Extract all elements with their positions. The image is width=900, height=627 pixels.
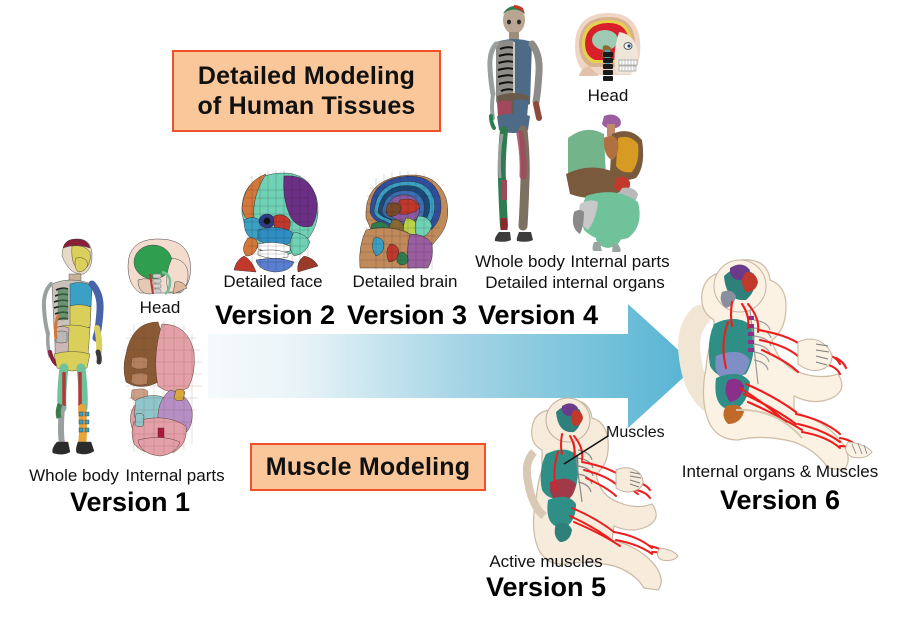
callout-detailed-line1: Detailed Modeling <box>197 61 415 91</box>
version4-wholebody-model <box>480 4 550 254</box>
version1-internal-parts-model <box>118 318 210 458</box>
version1-wholebody-label: Whole body <box>24 466 124 486</box>
version1-number: Version 1 <box>55 487 205 517</box>
version4-internalparts-label: Internal parts <box>560 252 680 272</box>
version6-seated-occupant-model <box>676 258 888 458</box>
version5-number: Version 5 <box>466 572 626 602</box>
version1-head-model <box>120 238 200 296</box>
version1-wholebody-model <box>36 236 112 464</box>
version6-label: Internal organs & Muscles <box>660 462 900 482</box>
version3-label: Detailed brain <box>340 272 470 292</box>
version2-number: Version 2 <box>205 300 345 330</box>
version6-number: Version 6 <box>660 485 900 515</box>
version5-label: Active muscles <box>466 552 626 572</box>
version3-number: Version 3 <box>337 300 477 330</box>
muscles-annotation-label: Muscles <box>606 424 665 442</box>
figure-canvas: Head Whole body Internal <box>0 0 900 627</box>
callout-muscle-line1: Muscle Modeling <box>266 452 470 482</box>
version1-head-label: Head <box>128 298 192 318</box>
version4-organs-label: Detailed internal organs <box>470 273 680 293</box>
version4-number: Version 4 <box>468 300 608 330</box>
version2-detailed-face-model <box>218 168 330 272</box>
version3-detailed-brain-model <box>348 168 460 272</box>
version2-label: Detailed face <box>208 272 338 292</box>
version1-internalparts-label: Internal parts <box>116 466 234 486</box>
callout-muscle-modeling: Muscle Modeling <box>250 443 486 491</box>
version4-wholebody-label: Whole body <box>470 252 570 272</box>
callout-detailed-line2: of Human Tissues <box>197 91 415 121</box>
callout-detailed-modeling: Detailed Modeling of Human Tissues <box>172 50 441 132</box>
version4-internal-parts-model <box>560 112 662 252</box>
version4-head-section-model <box>565 8 649 82</box>
version4-head-label: Head <box>568 86 648 106</box>
